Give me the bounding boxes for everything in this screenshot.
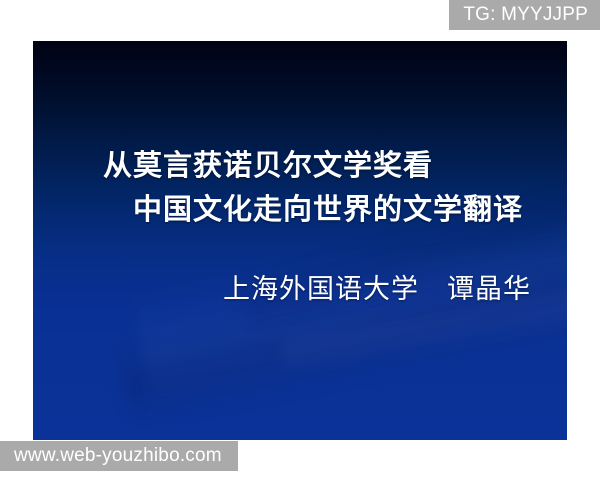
slide-subtitle-text: 上海外国语大学 谭晶华 (33, 269, 567, 309)
slide-title-line-2: 中国文化走向世界的文学翻译 (33, 188, 567, 232)
presentation-slide: 从莫言获诺贝尔文学奖看 中国文化走向世界的文学翻译 上海外国语大学 谭晶华 (33, 41, 567, 440)
watermark-top-right: TG: MYYJJPP (449, 0, 600, 30)
slide-title: 从莫言获诺贝尔文学奖看 中国文化走向世界的文学翻译 (33, 144, 567, 232)
slide-subtitle: 上海外国语大学 谭晶华 (33, 269, 567, 309)
watermark-top-right-text: TG: MYYJJPP (463, 4, 588, 26)
watermark-bottom-left-text: www.web-youzhibo.com (14, 445, 222, 467)
slide-title-line-1: 从莫言获诺贝尔文学奖看 (33, 144, 567, 188)
page-canvas: 从莫言获诺贝尔文学奖看 中国文化走向世界的文学翻译 上海外国语大学 谭晶华 TG… (0, 0, 600, 480)
watermark-bottom-left: www.web-youzhibo.com (0, 441, 238, 471)
